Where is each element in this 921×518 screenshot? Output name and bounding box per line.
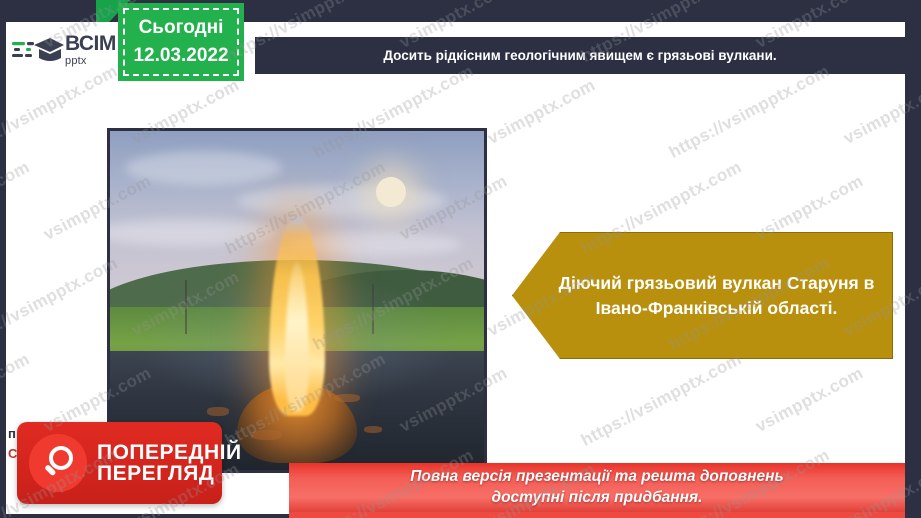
moon [376,177,406,207]
presentation-slide: ВСІМ pptx Сьогодні 12.03.2022 Досить рід… [0,0,921,518]
preview-badge-line-2: ПЕРЕГЛЯД [97,463,242,484]
purchase-banner-line-2: доступні після придбання. [410,488,783,508]
callout-arrow: Діючий грязьовий вулкан Старуня в Івано-… [512,232,893,359]
graduation-cap-icon [12,33,64,67]
magnifier-icon [29,434,87,492]
purchase-banner: Повна версія презентації та решта доповн… [289,463,905,512]
slide-header-text: Досить рідкісним геологічним явищем є гр… [383,48,776,63]
slide-header-bar: Досить рідкісним геологічним явищем є гр… [255,37,905,74]
purchase-banner-line-1: Повна версія презентації та решта доповн… [410,467,783,487]
date-badge-label: Сьогодні [139,14,224,42]
logo-title: ВСІМ [65,33,116,54]
preview-badge: ПОПЕРЕДНІЙ ПЕРЕГЛЯД [17,422,222,504]
purchase-banner-text: Повна версія презентації та решта доповн… [410,467,783,507]
brand-logo: ВСІМ pptx [6,22,129,78]
date-badge-value: 12.03.2022 [133,42,228,70]
logo-subtitle: pptx [65,56,116,67]
date-badge: Сьогодні 12.03.2022 [118,3,244,81]
callout-text: Діючий грязьовий вулкан Старуня в Івано-… [513,271,892,321]
preview-badge-line-1: ПОПЕРЕДНІЙ [97,442,242,463]
